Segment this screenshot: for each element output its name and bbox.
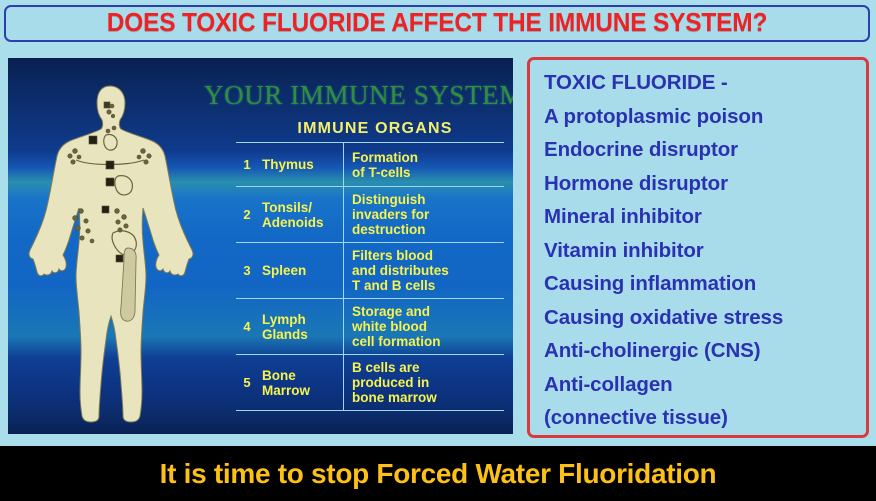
organ-name-line: Lymph [262, 312, 343, 327]
organ-function-line: B cells are [352, 360, 512, 375]
organ-name-line: Adenoids [262, 215, 343, 230]
table-row: 3 Spleen Filters blood and distributes T… [236, 243, 512, 298]
organ-function: Storage and white blood cell formation [343, 299, 512, 354]
fluoride-list-item: Mineral inhibitor [544, 200, 866, 234]
human-body-diagram [18, 78, 203, 428]
organ-name-line: Tonsils/ [262, 200, 343, 215]
row-number: 4 [236, 299, 258, 354]
table-row: 4 Lymph Glands Storage and white blood c… [236, 299, 512, 354]
organ-function-line: Formation [352, 150, 512, 165]
organ-function-line: and distributes [352, 263, 512, 278]
organ-function: B cells are produced in bone marrow [343, 355, 512, 410]
organ-name: Tonsils/ Adenoids [258, 187, 343, 242]
organ-name-line: Glands [262, 327, 343, 342]
fluoride-list-item: Anti-cholinergic (CNS) [544, 334, 866, 368]
organ-name: Lymph Glands [258, 299, 343, 354]
organ-name: Thymus [258, 143, 343, 186]
fluoride-list-item: Hormone disruptor [544, 167, 866, 201]
organ-function-line: Distinguish [352, 192, 512, 207]
poster-root: DOES TOXIC FLUORIDE AFFECT THE IMMUNE SY… [0, 0, 876, 501]
call-to-action-slogan: It is time to stop Forced Water Fluorida… [160, 458, 717, 490]
table-row: 2 Tonsils/ Adenoids Distinguish invaders… [236, 187, 512, 242]
immune-system-panel: YOUR IMMUNE SYSTEM IMMUNE ORGANS 1 Thymu… [8, 58, 513, 434]
organ-function-line: Filters blood [352, 248, 512, 263]
immune-system-panel-inner: YOUR IMMUNE SYSTEM IMMUNE ORGANS 1 Thymu… [8, 58, 513, 434]
organ-name: Spleen [258, 243, 343, 298]
fluoride-list-item: Vitamin inhibitor [544, 234, 866, 268]
row-number: 1 [236, 143, 258, 186]
organ-function-line: destruction [352, 222, 512, 237]
header-banner: DOES TOXIC FLUORIDE AFFECT THE IMMUNE SY… [4, 5, 870, 42]
organ-function-line: produced in [352, 375, 512, 390]
fluoride-list-item: (connective tissue) [544, 401, 866, 435]
organ-function: Filters blood and distributes T and B ce… [343, 243, 512, 298]
row-number: 5 [236, 355, 258, 410]
organ-name: Bone Marrow [258, 355, 343, 410]
fluoride-list-item: Anti-collagen [544, 368, 866, 402]
organ-name-line: Thymus [262, 157, 343, 172]
organ-function-line: T and B cells [352, 278, 512, 293]
toxic-fluoride-panel: TOXIC FLUORIDE - A protoplasmic poison E… [527, 57, 869, 438]
immune-organs-subtitle: IMMUNE ORGANS [240, 120, 510, 138]
organ-name-line: Marrow [262, 383, 343, 398]
fluoride-list-item: Causing inflammation [544, 267, 866, 301]
fluoride-list-item: Endocrine disruptor [544, 133, 866, 167]
organ-function-line: invaders for [352, 207, 512, 222]
organ-function-line: cell formation [352, 334, 512, 349]
body-silhouette [29, 86, 193, 422]
organ-function-line: white blood [352, 319, 512, 334]
bottom-banner: It is time to stop Forced Water Fluorida… [0, 446, 876, 501]
row-number: 2 [236, 187, 258, 242]
table-divider [236, 410, 504, 411]
organ-function-line: Storage and [352, 304, 512, 319]
fluoride-list-item: TOXIC FLUORIDE - [544, 66, 866, 100]
organ-function: Distinguish invaders for destruction [343, 187, 512, 242]
fluoride-list-item: A protoplasmic poison [544, 100, 866, 134]
organ-function-line: of T-cells [352, 165, 512, 180]
table-row: 5 Bone Marrow B cells are produced in bo… [236, 355, 512, 410]
organ-function-line: bone marrow [352, 390, 512, 405]
organ-function: Formation of T-cells [343, 143, 512, 186]
table-row: 1 Thymus Formation of T-cells [236, 143, 512, 186]
immune-organs-table: 1 Thymus Formation of T-cells 2 Tonsils/ [236, 142, 512, 424]
organ-name-line: Bone [262, 368, 343, 383]
organ-name-line: Spleen [262, 263, 343, 278]
page-title: DOES TOXIC FLUORIDE AFFECT THE IMMUNE SY… [107, 9, 768, 38]
row-number: 3 [236, 243, 258, 298]
fluoride-list-item: Causing oxidative stress [544, 301, 866, 335]
immune-system-title: YOUR IMMUNE SYSTEM [204, 80, 512, 111]
